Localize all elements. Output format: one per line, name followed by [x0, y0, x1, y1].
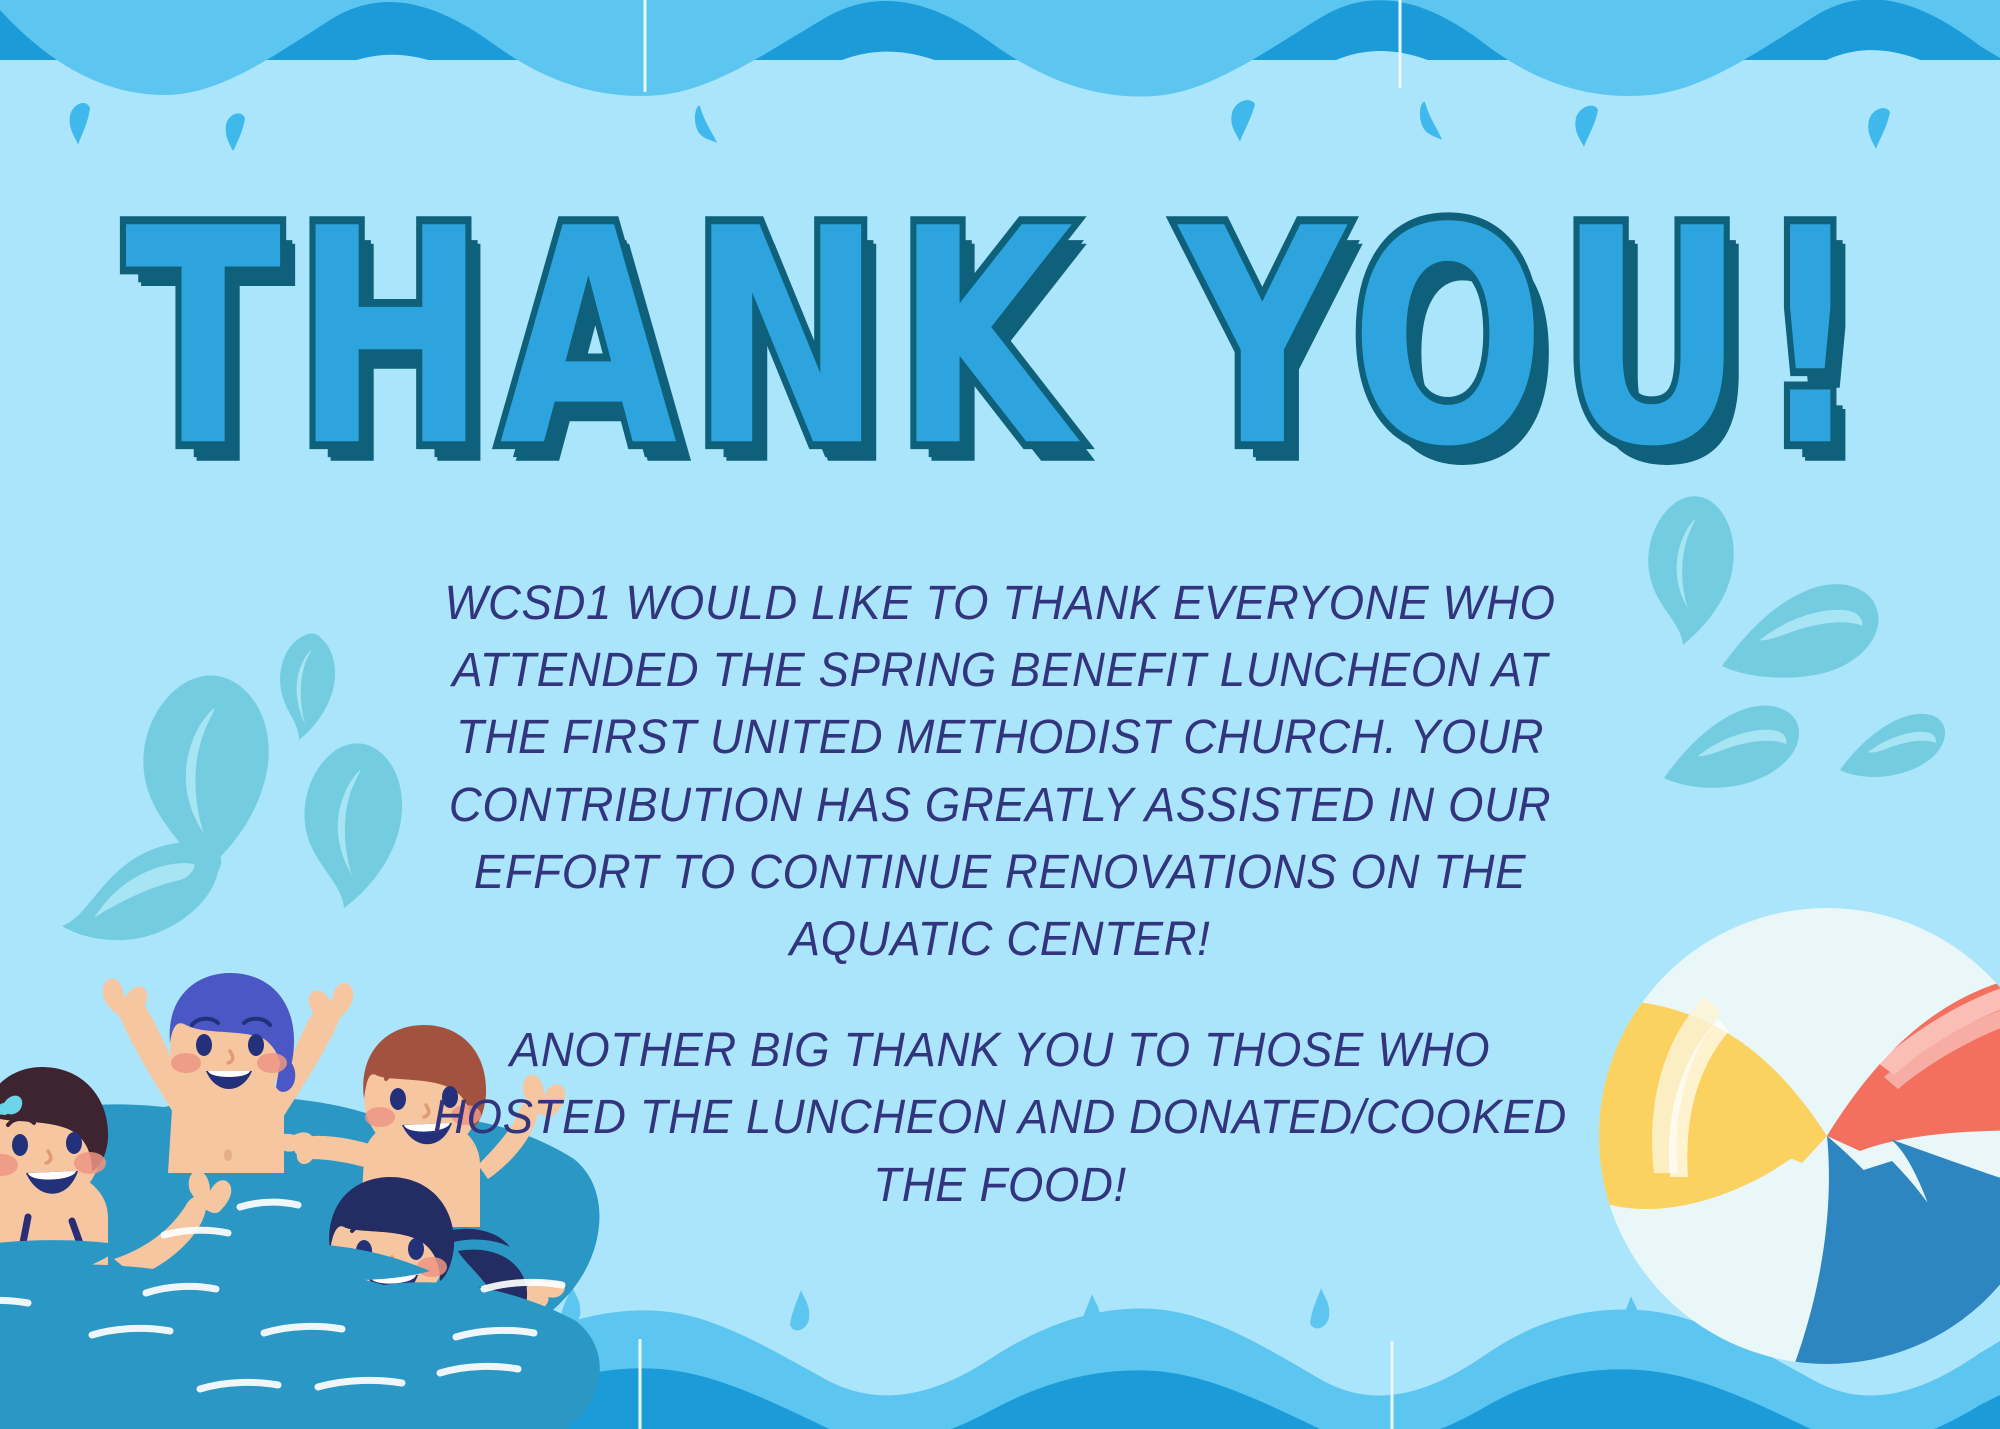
- water-droplet-icon: [1838, 712, 1946, 778]
- droplet-left-mid: [302, 740, 408, 908]
- water-droplet-icon: [1643, 493, 1739, 645]
- droplet-left-small: [277, 630, 339, 740]
- water-droplet-icon: [62, 832, 230, 944]
- poster-canvas: THANK YOU! WCSD1 WOULD LIKE TO THANK EVE…: [0, 0, 2000, 1429]
- beach-ball-illustration: [1592, 901, 2000, 1371]
- water-droplet-icon: [1660, 704, 1800, 788]
- water-droplet-icon: [302, 740, 408, 908]
- droplet-right-upper: [1643, 493, 1739, 645]
- droplet-left-low: [62, 832, 230, 944]
- wave-top-icon: [0, 0, 2000, 150]
- droplet-left-large: [140, 672, 276, 880]
- wave-top-decoration: [0, 0, 2000, 150]
- water-droplet-icon: [1712, 582, 1880, 678]
- body-copy-block: WCSD1 WOULD LIKE TO THANK EVERYONE WHO A…: [395, 570, 1605, 1219]
- water-droplet-icon: [70, 100, 1890, 150]
- title-block: THANK YOU!: [0, 196, 2000, 430]
- paragraph-thank-you-hosts: ANOTHER BIG THANK YOU TO THOSE WHO HOSTE…: [425, 1017, 1575, 1219]
- water-droplet-icon: [140, 672, 276, 880]
- droplet-right-mid: [1712, 582, 1880, 678]
- page-title: THANK YOU!: [125, 196, 1876, 482]
- water-droplet-icon: [277, 630, 339, 740]
- droplet-right-lower: [1660, 704, 1800, 788]
- paragraph-thank-you-attendees: WCSD1 WOULD LIKE TO THANK EVERYONE WHO A…: [425, 570, 1575, 973]
- droplet-right-far: [1838, 712, 1946, 778]
- beach-ball-icon: [1592, 901, 2000, 1371]
